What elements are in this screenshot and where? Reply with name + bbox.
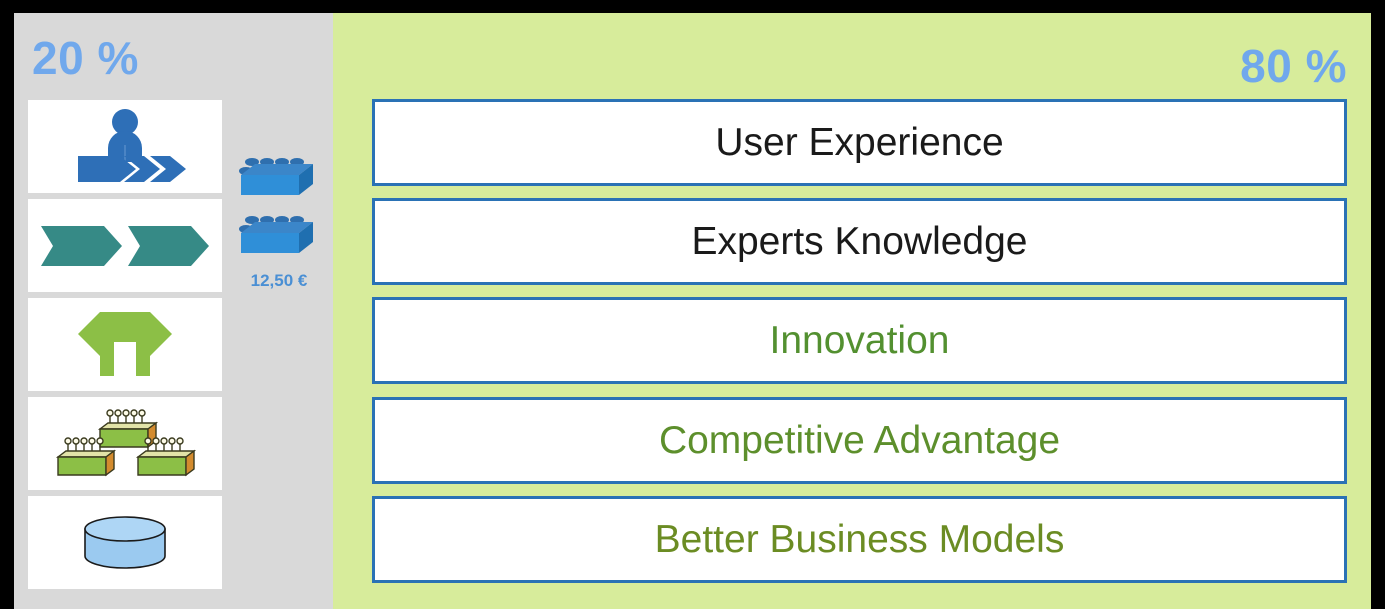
icon-card-two-chevrons[interactable] bbox=[28, 199, 222, 292]
icon-card-audience-blocks[interactable] bbox=[28, 397, 222, 490]
right-benefits-panel: 80 % User Experience Experts Knowledge I… bbox=[333, 13, 1371, 609]
slide-canvas: 20 % bbox=[0, 0, 1385, 609]
benefit-label: Better Business Models bbox=[655, 520, 1065, 559]
icon-card-database-cylinder[interactable] bbox=[28, 496, 222, 589]
benefit-label: Competitive Advantage bbox=[659, 421, 1060, 460]
benefit-label: Experts Knowledge bbox=[691, 222, 1027, 261]
person-with-arrows-icon bbox=[28, 100, 222, 193]
benefit-box-competitive-advantage[interactable]: Competitive Advantage bbox=[372, 397, 1347, 484]
icon-card-person-with-arrows[interactable] bbox=[28, 100, 222, 193]
green-arch-icon bbox=[28, 298, 222, 391]
lego-bricks-icon bbox=[226, 151, 332, 274]
benefit-box-user-experience[interactable]: User Experience bbox=[372, 99, 1347, 186]
icon-card-green-arch[interactable] bbox=[28, 298, 222, 391]
database-cylinder-icon bbox=[28, 496, 222, 589]
benefit-box-better-business-models[interactable]: Better Business Models bbox=[372, 496, 1347, 583]
audience-blocks-icon bbox=[28, 397, 222, 490]
price-label: 12,50 € bbox=[226, 271, 332, 291]
right-percentage-label: 80 % bbox=[1240, 39, 1347, 93]
two-chevrons-icon bbox=[28, 199, 222, 292]
left-inputs-panel: 20 % bbox=[14, 13, 333, 609]
benefit-label: Innovation bbox=[770, 321, 950, 360]
benefit-box-experts-knowledge[interactable]: Experts Knowledge bbox=[372, 198, 1347, 285]
benefit-box-innovation[interactable]: Innovation bbox=[372, 297, 1347, 384]
left-percentage-label: 20 % bbox=[32, 31, 139, 85]
benefit-label: User Experience bbox=[715, 123, 1003, 162]
